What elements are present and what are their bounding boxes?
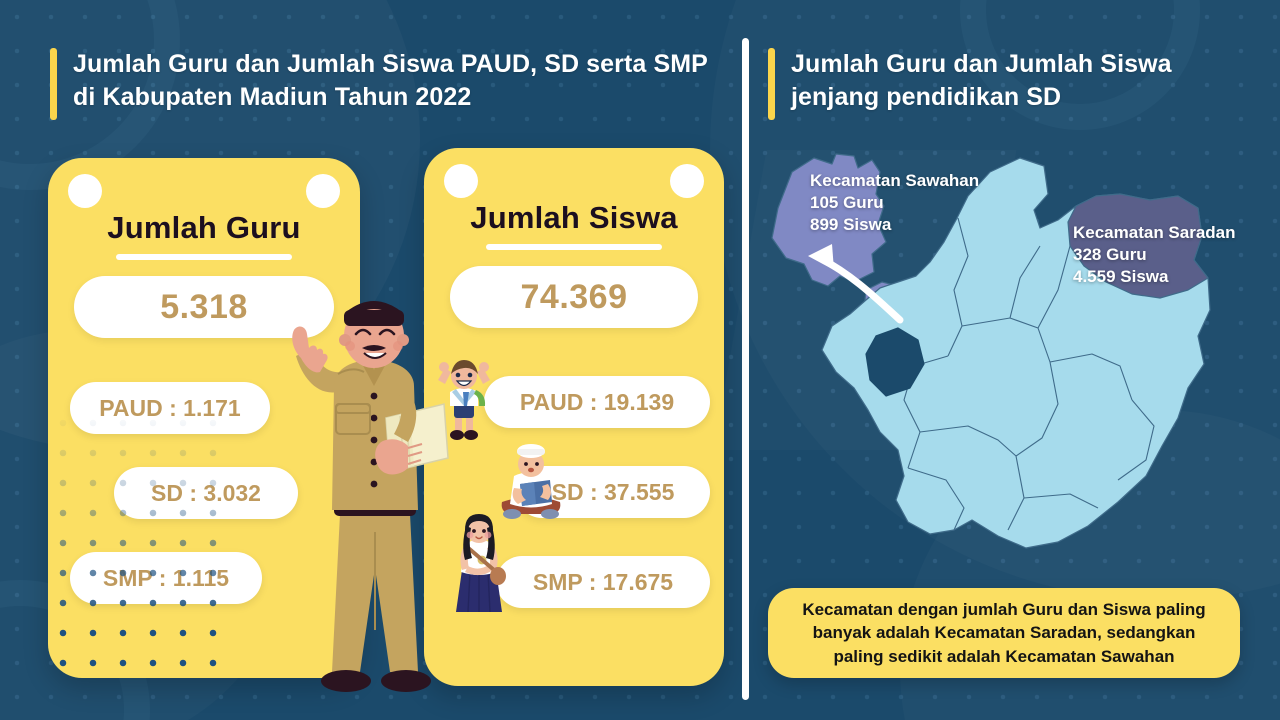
infographic-canvas: Jumlah Guru dan Jumlah Siswa PAUD, SD se…: [0, 0, 1280, 720]
map-label-saradan-teachers: 328 Guru: [1073, 244, 1236, 266]
map-caption-box: Kecamatan dengan jumlah Guru dan Siswa p…: [768, 588, 1240, 678]
title-accent-bar: [50, 48, 57, 120]
map-label-saradan-students: 4.559 Siswa: [1073, 266, 1236, 288]
card-siswa-stat-paud: PAUD : 19.139: [484, 376, 710, 428]
card-guru-total-value: 5.318: [160, 288, 248, 327]
right-title-text: Jumlah Guru dan Jumlah Siswa jenjang pen…: [791, 48, 1238, 114]
card-guru-heading: Jumlah Guru: [48, 210, 360, 246]
map-label-sawahan-name: Kecamatan Sawahan: [810, 170, 979, 192]
student-cheering-illustration-icon: [432, 358, 496, 442]
card-siswa-stat-paud-text: PAUD : 19.139: [520, 389, 674, 416]
card-heading-rule: [116, 254, 292, 260]
card-hole-right: [306, 174, 340, 208]
card-siswa-stat-sd-text: SD : 37.555: [552, 479, 675, 506]
title-accent-bar: [768, 48, 775, 120]
card-siswa-total-value: 74.369: [521, 278, 628, 317]
card-hole-left: [68, 174, 102, 208]
card-hole-right: [670, 164, 704, 198]
map-label-saradan-name: Kecamatan Saradan: [1073, 222, 1236, 244]
map-caption-text: Kecamatan dengan jumlah Guru dan Siswa p…: [786, 598, 1222, 668]
right-panel-title: Jumlah Guru dan Jumlah Siswa jenjang pen…: [768, 48, 1238, 120]
panel-divider: [742, 38, 749, 700]
map-label-sawahan-students: 899 Siswa: [810, 214, 979, 236]
card-siswa-stat-smp: SMP : 17.675: [496, 556, 710, 608]
left-title-text: Jumlah Guru dan Jumlah Siswa PAUD, SD se…: [73, 48, 710, 114]
map-label-sawahan: Kecamatan Sawahan 105 Guru 899 Siswa: [810, 170, 979, 236]
card-hole-left: [444, 164, 478, 198]
card-siswa-stat-smp-text: SMP : 17.675: [533, 569, 673, 596]
map-label-sawahan-teachers: 105 Guru: [810, 192, 979, 214]
card-heading-rule: [486, 244, 662, 250]
card-siswa-heading: Jumlah Siswa: [424, 200, 724, 236]
card-siswa-total-pill: 74.369: [450, 266, 698, 328]
map-label-saradan: Kecamatan Saradan 328 Guru 4.559 Siswa: [1073, 222, 1236, 288]
student-girl-illustration-icon: [448, 508, 510, 618]
card-dot-pattern: [48, 408, 233, 678]
left-panel-title: Jumlah Guru dan Jumlah Siswa PAUD, SD se…: [50, 48, 710, 120]
